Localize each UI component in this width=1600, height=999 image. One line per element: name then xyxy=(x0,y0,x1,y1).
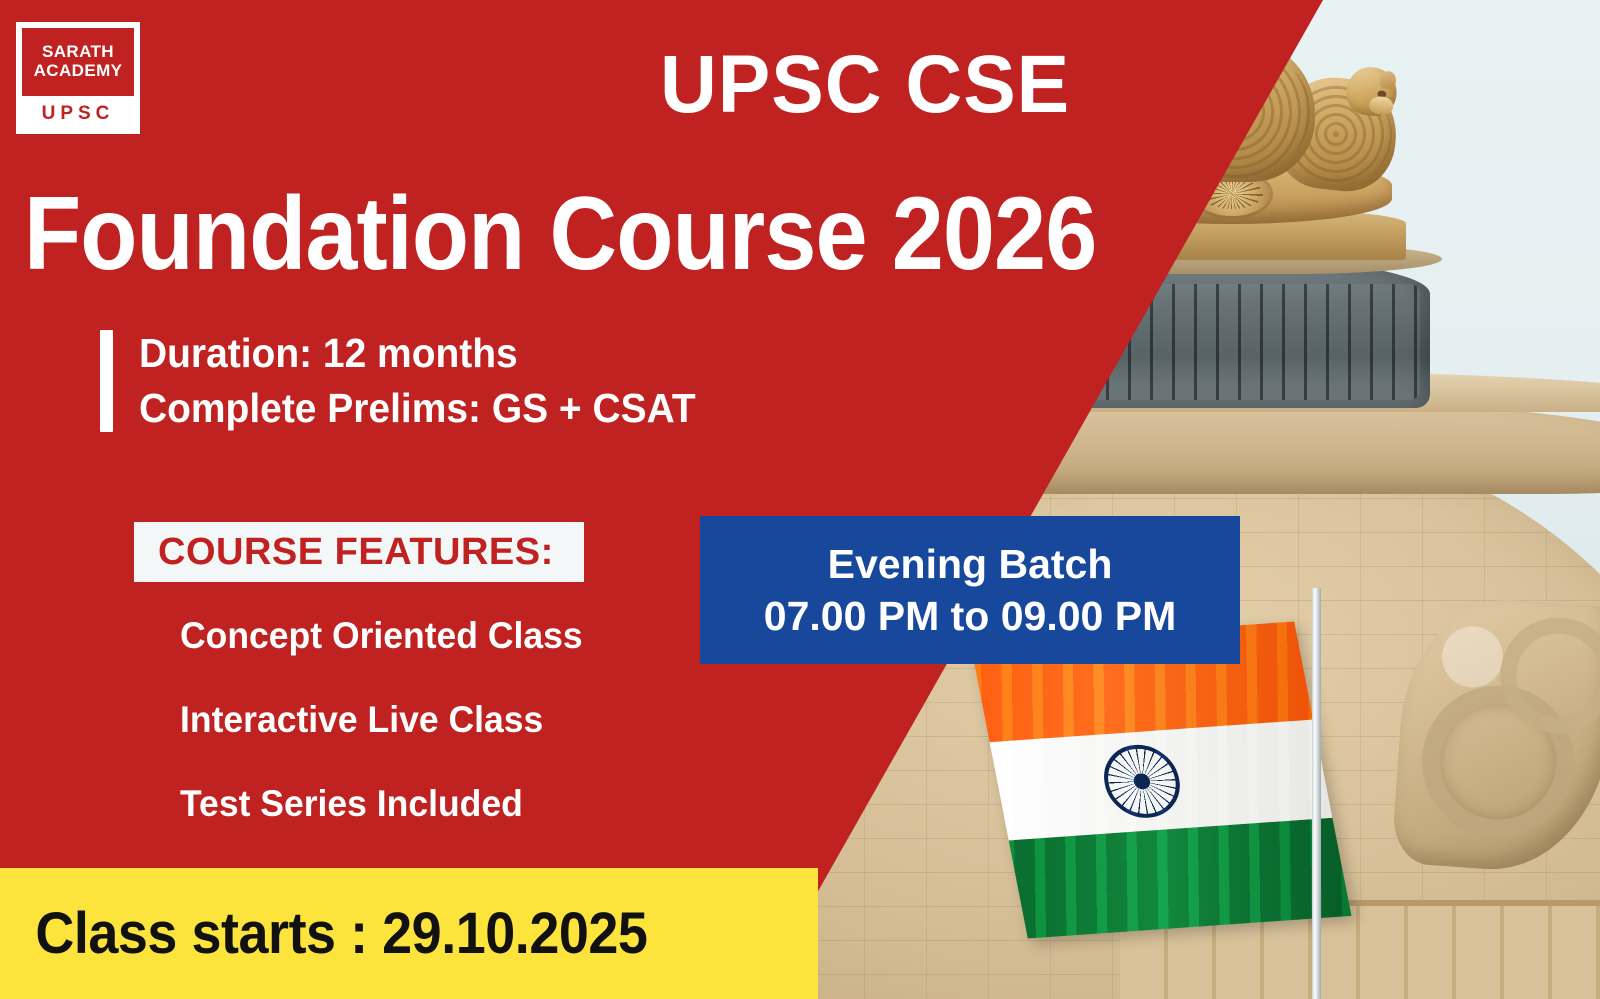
feature-item: Interactive Live Class xyxy=(180,699,583,741)
flagpole-icon xyxy=(1312,588,1321,999)
vertical-accent-bar xyxy=(100,330,113,432)
logo-line-sarath: SARATH xyxy=(42,43,114,62)
batch-name: Evening Batch xyxy=(828,539,1113,589)
feature-item: Test Series Included xyxy=(180,783,583,825)
feature-item: Concept Oriented Class xyxy=(180,615,583,657)
duration-block: Duration: 12 months Complete Prelims: GS… xyxy=(100,330,725,432)
indian-national-flag-icon xyxy=(971,621,1352,938)
class-start-text: Class starts : 29.10.2025 xyxy=(0,900,647,967)
course-features-list: Concept Oriented Class Interactive Live … xyxy=(180,615,599,825)
duration-text: Duration: 12 months xyxy=(139,330,696,377)
course-features-label: COURSE FEATURES: xyxy=(158,531,554,574)
duration-lines: Duration: 12 months Complete Prelims: GS… xyxy=(139,330,725,432)
promotional-poster: SARATH ACADEMY UPSC UPSC CSE Foundation … xyxy=(0,0,1600,999)
evening-batch-box: Evening Batch 07.00 PM to 09.00 PM xyxy=(700,516,1240,664)
headline-foundation-course: Foundation Course 2026 xyxy=(24,175,1096,294)
lion-ear-icon xyxy=(1379,70,1397,90)
prelims-text: Complete Prelims: GS + CSAT xyxy=(139,385,696,432)
flag-fold-shading xyxy=(971,621,1352,938)
logo-line-upsc: UPSC xyxy=(22,96,134,125)
course-features-heading: COURSE FEATURES: xyxy=(134,522,584,582)
lion-leg-icon xyxy=(1267,138,1293,198)
logo-line-academy: ACADEMY xyxy=(34,62,123,81)
logo-inner-box: SARATH ACADEMY xyxy=(22,28,134,96)
lion-snout-icon xyxy=(1368,95,1394,115)
class-start-banner: Class starts : 29.10.2025 xyxy=(0,868,818,999)
sarath-academy-logo[interactable]: SARATH ACADEMY UPSC xyxy=(16,22,140,134)
batch-timing: 07.00 PM to 09.00 PM xyxy=(764,591,1176,641)
headline-upsc-cse: UPSC CSE xyxy=(660,38,1070,132)
